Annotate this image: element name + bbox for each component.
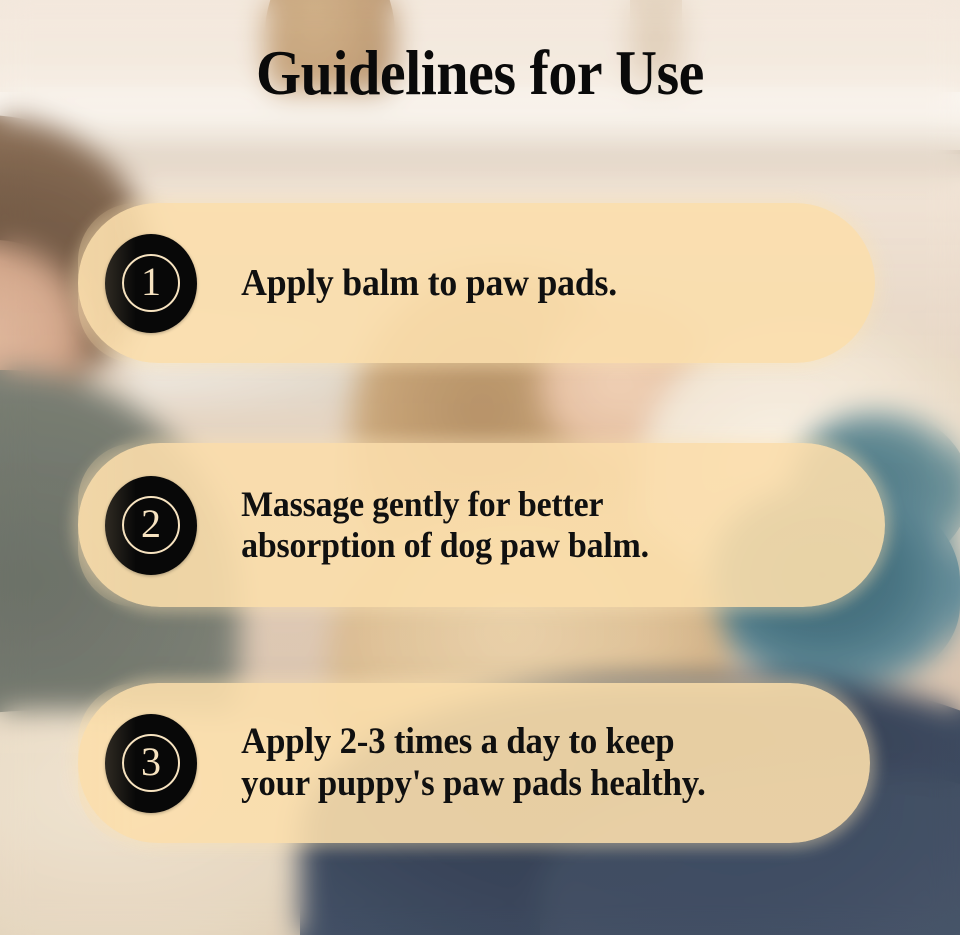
- step-number-badge: 2: [105, 476, 197, 575]
- guideline-step-card[interactable]: 1 Apply balm to paw pads.: [78, 203, 875, 363]
- step-number-badge: 1: [105, 234, 197, 333]
- step-number-badge: 3: [105, 714, 197, 813]
- guidelines-infographic: Guidelines for Use 1 Apply balm to paw p…: [0, 0, 960, 935]
- step-text: Massage gently for better absorption of …: [197, 484, 844, 565]
- step-text: Apply balm to paw pads.: [197, 262, 834, 305]
- step-number-label: 2: [141, 504, 161, 544]
- guideline-step-card[interactable]: 2 Massage gently for better absorption o…: [78, 443, 885, 607]
- guideline-step-list: 1 Apply balm to paw pads. 2 Massage gent…: [0, 0, 960, 935]
- step-number-label: 3: [141, 742, 161, 782]
- step-number-label: 1: [141, 262, 161, 302]
- guideline-step-card[interactable]: 3 Apply 2-3 times a day to keep your pup…: [78, 683, 870, 843]
- step-text: Apply 2-3 times a day to keep your puppy…: [197, 721, 830, 805]
